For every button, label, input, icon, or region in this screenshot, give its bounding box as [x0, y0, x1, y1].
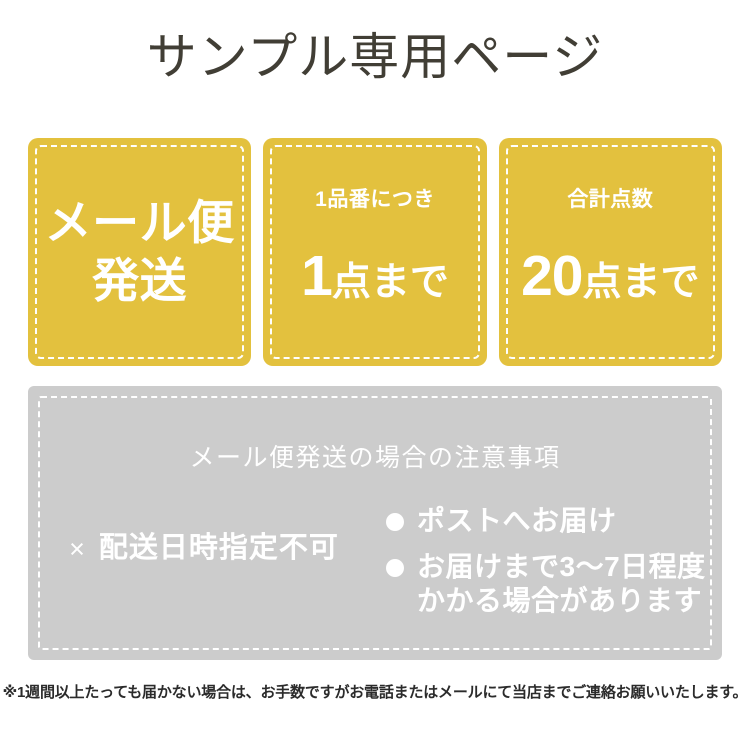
notice-body: × 配送日時指定不可 ポストへお届け お届けまで3〜7日程度 かかる場合がありま…	[28, 504, 722, 644]
card-total-quantity-limit: 合計点数 20点まで	[499, 138, 722, 366]
info-cards-row: メール便 発送 1品番につき 1点まで 合計点数 20点まで	[28, 138, 722, 366]
card-shipping-method: メール便 発送	[28, 138, 251, 366]
notice-bullet-text-1: ポストへお届け	[417, 504, 617, 538]
bullet-dot-icon	[386, 513, 404, 531]
cross-icon: ×	[69, 536, 85, 563]
bullet-dot-icon	[386, 559, 404, 577]
list-item: ポストへお届け	[386, 504, 722, 538]
card-per-item-limit: 1品番につき 1点まで	[263, 138, 486, 366]
list-item: お届けまで3〜7日程度 かかる場合があります	[386, 550, 722, 618]
notice-restriction-text: 配送日時指定不可	[99, 530, 339, 566]
notice-heading: メール便発送の場合の注意事項	[28, 442, 722, 474]
card-per-item-limit-caption: 1品番につき	[263, 187, 486, 213]
card-total-quantity-limit-unit: 点まで	[583, 261, 700, 304]
card-shipping-method-line2: 発送	[28, 252, 251, 310]
notice-bullet-list: ポストへお届け お届けまで3〜7日程度 かかる場合があります	[380, 504, 722, 618]
card-total-quantity-limit-caption: 合計点数	[499, 187, 722, 213]
card-per-item-limit-unit: 点まで	[332, 261, 449, 304]
card-total-quantity-limit-content: 合計点数 20点まで	[499, 187, 722, 318]
card-per-item-limit-number: 1	[301, 244, 332, 308]
card-per-item-limit-content: 1品番につき 1点まで	[263, 187, 486, 318]
card-total-quantity-limit-value: 20点まで	[499, 249, 722, 318]
sample-shipping-banner: サンプル専用ページ メール便 発送 1品番につき 1点まで 合計点数	[0, 0, 750, 750]
notice-restriction: × 配送日時指定不可	[28, 504, 380, 566]
notice-panel: メール便発送の場合の注意事項 × 配送日時指定不可 ポストへお届け お届けまで3…	[28, 386, 722, 660]
card-total-quantity-limit-number: 20	[521, 244, 582, 308]
card-per-item-limit-value: 1点まで	[263, 249, 486, 318]
card-shipping-method-content: メール便 発送	[28, 194, 251, 310]
card-shipping-method-line1: メール便	[28, 194, 251, 252]
footer-note: ※1週間以上たっても届かない場合は、お手数ですがお電話またはメールにて当店までご…	[0, 682, 750, 704]
page-title: サンプル専用ページ	[0, 26, 750, 88]
notice-bullet-text-2: お届けまで3〜7日程度 かかる場合があります	[417, 550, 706, 618]
